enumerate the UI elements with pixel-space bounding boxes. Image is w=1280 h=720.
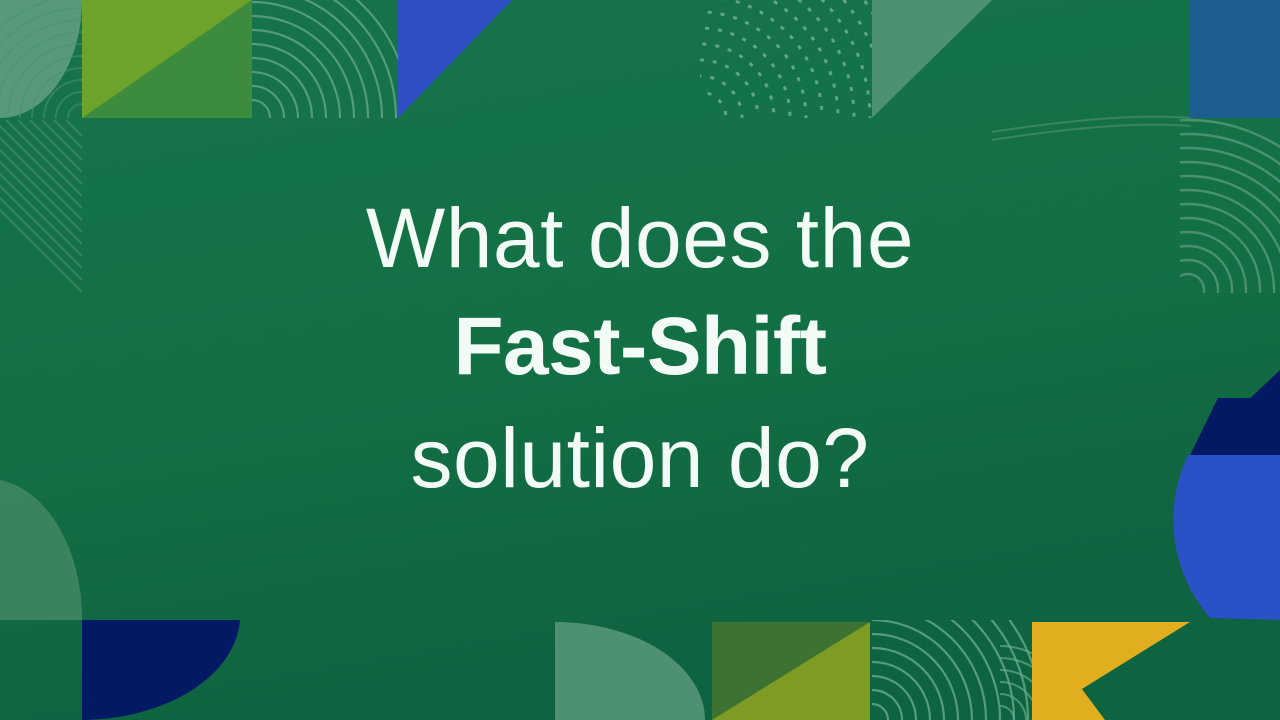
heading-line-2-emphasis: Fast-Shift — [0, 306, 1280, 388]
quarter-circle-bottom-center — [555, 622, 705, 720]
olive-triangle-bottom — [712, 622, 870, 720]
green-square-top-left — [82, 0, 252, 118]
lime-triangle-top-left — [82, 0, 252, 118]
green-square-bottom — [712, 622, 870, 720]
ring-arcs-bottom-center — [702, 550, 1042, 720]
sweep-arc-top-right — [992, 117, 1190, 140]
royal-blue-triangle-top — [398, 0, 512, 118]
quarter-circle-top-left — [0, 0, 82, 128]
navy-quarter-circle-bottom-left — [82, 620, 240, 720]
heading-line-3: solution do? — [0, 416, 1280, 500]
heading-line-1: What does the — [0, 196, 1280, 280]
steel-blue-rect-top-right — [1190, 0, 1280, 118]
gold-triangle-bottom-right — [1032, 622, 1190, 720]
sage-triangle-top-right — [872, 0, 992, 118]
gold-triangle-bottom-right-body — [1032, 622, 1105, 720]
ring-arcs-bottom-right-small — [926, 646, 1074, 720]
title-card-slide: What does the Fast-Shift solution do? — [0, 0, 1280, 720]
title-block: What does the Fast-Shift solution do? — [0, 196, 1280, 500]
quarter-circle-left-middle — [0, 480, 82, 620]
